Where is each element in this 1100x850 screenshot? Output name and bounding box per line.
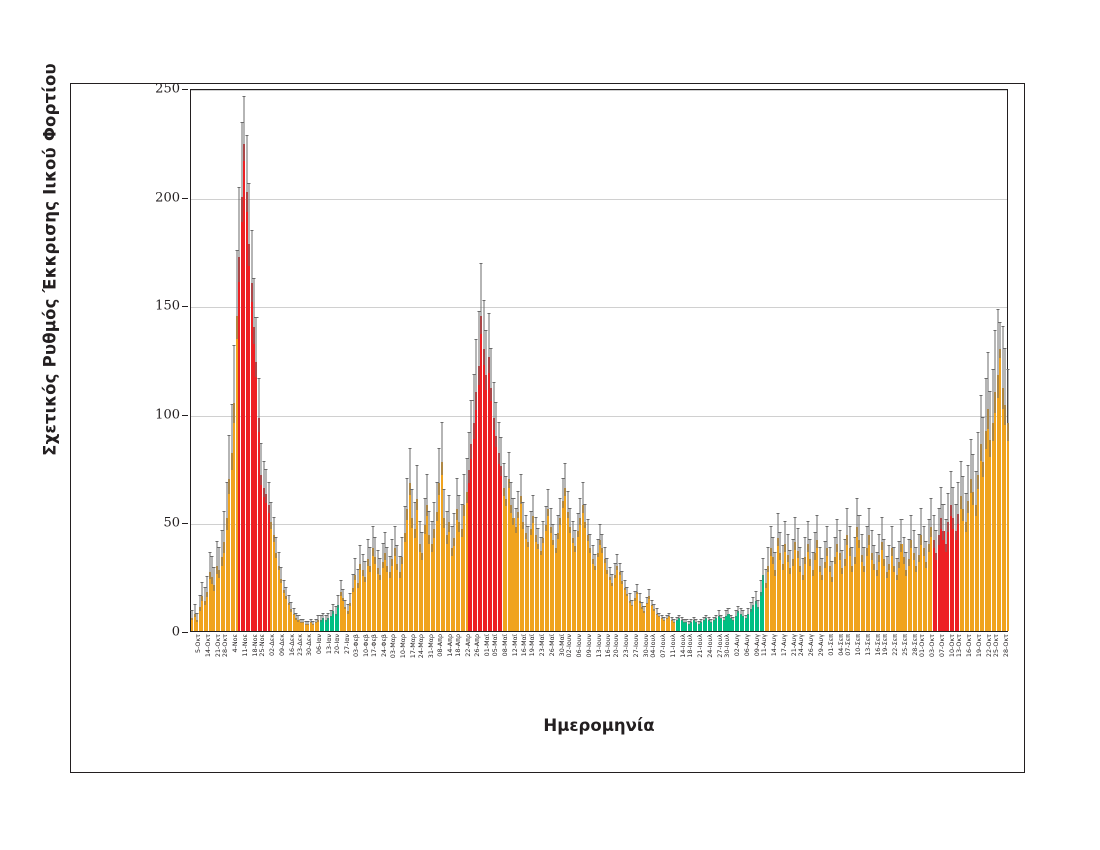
error-bar-line: [911, 516, 912, 548]
error-bar-line: [755, 592, 756, 604]
error-bar-line: [330, 611, 331, 617]
error-bar-line: [483, 301, 484, 366]
error-bar-line: [219, 548, 220, 577]
error-bar-line: [827, 527, 828, 556]
x-tick-label: 06-Ιουν: [575, 634, 583, 658]
error-bar-line: [258, 379, 259, 432]
error-bar-line: [800, 548, 801, 571]
x-tick-label: 11-Ιουλ: [669, 634, 677, 658]
error-bar-line: [476, 340, 477, 410]
error-bar-line: [422, 533, 423, 559]
error-bar-line: [525, 516, 526, 539]
error-bar-line: [772, 538, 773, 564]
error-bar-line: [580, 499, 581, 525]
error-bar-line: [211, 557, 212, 583]
error-bar-line: [886, 557, 887, 578]
error-bar-line: [444, 490, 445, 528]
error-bar-line: [627, 588, 628, 597]
x-tick-label: 26-Μαϊ: [548, 634, 556, 656]
error-bar-line: [550, 509, 551, 532]
y-axis: 050100150200250: [130, 83, 188, 639]
error-bar-line: [792, 540, 793, 566]
error-bar-line: [597, 540, 598, 558]
error-bar-line: [1000, 323, 1001, 358]
x-tick-label: 13-Οκτ: [955, 634, 963, 657]
error-bar-line: [234, 346, 235, 422]
x-tick-label: 20-Ιουν: [612, 634, 620, 658]
error-bar-line: [419, 522, 420, 551]
x-tick-label: 08-Απρ: [436, 634, 444, 657]
error-bar-line: [424, 499, 425, 534]
error-bar-line: [908, 540, 909, 566]
error-bar-line: [268, 483, 269, 512]
error-bar-line: [768, 548, 769, 571]
error-bar-line: [750, 603, 751, 612]
error-bar-line: [765, 570, 766, 588]
error-bar-line: [983, 418, 984, 477]
error-bar-line: [676, 618, 677, 621]
error-bar-line: [271, 503, 272, 529]
error-bar-line: [916, 548, 917, 571]
bar-group: [1007, 88, 1009, 631]
error-bar-line: [288, 596, 289, 605]
error-bar-line: [595, 555, 596, 570]
error-bar-line: [881, 518, 882, 550]
error-bar-line: [587, 520, 588, 541]
error-bar-line: [590, 535, 591, 553]
error-bar-line: [372, 527, 373, 556]
error-bar-line: [197, 614, 198, 623]
x-tick-label: 24-Αυγ: [797, 634, 805, 656]
error-bar-line: [266, 470, 267, 502]
error-bar-line: [960, 462, 961, 509]
x-tick-label: 28-Οκτ: [1002, 634, 1010, 657]
error-bar-line: [889, 546, 890, 569]
error-bar-line: [244, 97, 245, 162]
error-bar-line: [701, 620, 702, 623]
error-bar-line: [711, 620, 712, 623]
x-tick-label: 01-Οκτ: [918, 634, 926, 657]
error-bar-line: [852, 548, 853, 571]
error-bar-line: [491, 349, 492, 402]
x-tick-label: 12-Μαϊ: [511, 634, 519, 656]
error-bar-line: [530, 512, 531, 535]
error-bar-line: [936, 531, 937, 560]
error-bar-line: [464, 475, 465, 516]
x-tick-label: 13-Ιαν: [325, 634, 333, 654]
error-bar-line: [515, 509, 516, 532]
error-bar-line: [562, 479, 563, 508]
error-bar-line: [844, 540, 845, 566]
error-bar-line: [622, 572, 623, 584]
error-bar-line: [567, 492, 568, 518]
error-bar-line: [513, 499, 514, 525]
error-bar-line: [861, 535, 862, 561]
error-bar-line: [545, 507, 546, 530]
error-bar-line: [404, 507, 405, 542]
error-bar-line: [931, 499, 932, 537]
error-bar-line: [239, 188, 240, 282]
error-bar-line: [760, 581, 761, 596]
error-bar-line: [995, 331, 996, 413]
error-bar-line: [807, 522, 808, 551]
error-bar-line: [308, 622, 309, 625]
x-tick-label: 25-Νοε: [258, 634, 266, 657]
error-bar-line: [1002, 327, 1003, 409]
error-bar-line: [790, 551, 791, 574]
x-tick-label: 09-Ιουν: [585, 634, 593, 658]
error-bar-line: [624, 581, 625, 590]
error-bar-line: [488, 314, 489, 373]
bars-layer: [191, 90, 1007, 631]
error-bar-line: [236, 251, 237, 339]
error-bar-line: [602, 535, 603, 553]
error-bar-line: [854, 538, 855, 564]
error-bar-line: [347, 605, 348, 614]
x-tick-label: 07-Οκτ: [938, 634, 946, 657]
x-tick-label: 24-Ιουλ: [706, 634, 714, 658]
error-bar-line: [436, 483, 437, 521]
error-bar-line: [315, 620, 316, 623]
error-bar-line: [691, 620, 692, 623]
error-bar-line: [412, 490, 413, 528]
error-bar-line: [300, 620, 301, 623]
x-tick-label: 22-Απρ: [464, 634, 472, 657]
error-bar-line: [338, 596, 339, 608]
error-bar-line: [575, 531, 576, 552]
error-bar-line: [812, 553, 813, 576]
error-bar-line: [1007, 370, 1008, 440]
error-bar-line: [394, 527, 395, 556]
error-bar-line: [214, 568, 215, 591]
x-tick-label: 11-Νοε: [241, 634, 249, 657]
error-bar-line: [426, 475, 427, 516]
error-bar-line: [674, 620, 675, 623]
error-bar-line: [945, 520, 946, 552]
error-bar-line: [644, 607, 645, 613]
error-bar-line: [318, 616, 319, 622]
error-bar-line: [834, 538, 835, 564]
error-bar-line: [402, 538, 403, 564]
error-bar-line: [429, 512, 430, 544]
error-bar-line: [548, 490, 549, 516]
x-tick-label: 06-Ιαν: [315, 634, 323, 654]
x-tick-label: 09-Δεκ: [278, 634, 286, 656]
error-bar-line: [557, 516, 558, 539]
error-bar-line: [291, 603, 292, 612]
error-bar-line: [434, 503, 435, 538]
error-bar-line: [703, 618, 704, 621]
error-bar-line: [313, 622, 314, 625]
x-tick-label: 28-Οκτ: [221, 634, 229, 657]
error-bar-line: [377, 551, 378, 574]
error-bar-line: [459, 496, 460, 531]
x-tick-label: 14-Οκτ: [204, 634, 212, 657]
error-bar-line: [953, 488, 954, 529]
error-bar-line: [874, 546, 875, 569]
error-bar-line: [241, 123, 242, 223]
error-bar-line: [726, 611, 727, 617]
error-bar-line: [805, 538, 806, 564]
x-tick-label: 21-Ιουλ: [696, 634, 704, 658]
error-bar-line: [684, 620, 685, 623]
x-axis-tick-labels: 5-Οκτ14-Οκτ21-Οκτ28-Οκτ4-Νοε11-Νοε18-Νοε…: [190, 634, 1008, 710]
x-tick-label: 14-Αυγ: [770, 634, 778, 656]
error-bar-line: [928, 520, 929, 552]
error-bar-line: [604, 548, 605, 563]
x-tick-label: 16-Δεκ: [288, 634, 296, 656]
error-bar-line: [876, 553, 877, 576]
error-bar-line: [785, 522, 786, 551]
error-bar-line: [194, 605, 195, 617]
error-bar-line: [795, 518, 796, 550]
x-tick-label: 07-Ιουλ: [659, 634, 667, 658]
error-bar-line: [417, 466, 418, 510]
error-bar-line: [758, 601, 759, 610]
y-tick-label: 100: [155, 407, 180, 422]
x-tick-label: 20-Ιαν: [333, 634, 341, 654]
x-tick-label: 18-Απρ: [454, 634, 462, 657]
error-bar-line: [824, 542, 825, 568]
x-tick-label: 23-Δεκ: [296, 634, 304, 656]
error-bar-line: [466, 459, 467, 503]
x-tick-label: 19-Μαϊ: [528, 634, 536, 656]
error-bar-line: [634, 592, 635, 601]
x-tick-label: 10-Σεπ: [854, 634, 862, 656]
error-bar-line: [814, 533, 815, 559]
error-bar-line: [775, 553, 776, 576]
error-bar-line: [842, 551, 843, 574]
error-bar-line: [276, 538, 277, 559]
error-bar-line: [471, 401, 472, 460]
error-bar-line: [350, 594, 351, 606]
error-bar-line: [392, 540, 393, 566]
x-tick-label: 02-Αυγ: [733, 634, 741, 656]
error-bar-line: [614, 564, 615, 579]
error-bar-line: [582, 483, 583, 512]
error-bar-line: [629, 594, 630, 603]
y-tick-mark: [182, 632, 188, 633]
x-tick-label: 10-Μαρ: [399, 634, 407, 658]
error-bar-line: [397, 546, 398, 569]
error-bar-line: [446, 512, 447, 544]
error-bar-line: [810, 540, 811, 566]
y-tick-label: 200: [155, 190, 180, 205]
error-bar-line: [918, 535, 919, 561]
x-tick-label: 11-Αυγ: [760, 634, 768, 656]
error-bar-line: [698, 622, 699, 625]
error-bar-line: [664, 618, 665, 621]
x-tick-label: 27-Ιουν: [632, 634, 640, 658]
x-tick-label: 03-Οκτ: [928, 634, 936, 657]
error-bar-line: [585, 505, 586, 528]
plot-area: [190, 89, 1008, 632]
error-bar-line: [837, 520, 838, 552]
x-tick-label: 05-Μαϊ: [491, 634, 499, 656]
x-axis-title: Ημερομηνία: [190, 716, 1008, 735]
error-bar-line: [251, 231, 252, 301]
error-bar-line: [921, 509, 922, 544]
error-bar-line: [305, 622, 306, 625]
error-bar-line: [362, 555, 363, 576]
x-tick-label: 4-Νοε: [231, 634, 239, 653]
y-tick-label: 250: [155, 82, 180, 97]
y-tick-mark: [182, 89, 188, 90]
y-tick-mark: [182, 523, 188, 524]
error-bar-line: [493, 383, 494, 430]
error-bar-line: [819, 548, 820, 571]
x-tick-label: 26-Απρ: [473, 634, 481, 657]
error-bar-line: [941, 488, 942, 529]
error-bar-line: [713, 618, 714, 621]
error-bar-line: [632, 601, 633, 607]
error-bar-line: [407, 479, 408, 520]
error-bar-line: [518, 492, 519, 518]
x-tick-label: 02-Δεκ: [268, 634, 276, 656]
x-tick-label: 19-Σεπ: [881, 634, 889, 656]
error-bar-line: [486, 331, 487, 390]
error-bar-line: [357, 570, 358, 588]
error-bar-line: [286, 588, 287, 600]
x-tick-label: 16-Οκτ: [965, 634, 973, 657]
error-bar-line: [231, 405, 232, 470]
error-bar-line: [226, 483, 227, 530]
y-tick-mark: [182, 415, 188, 416]
error-bar-line: [382, 544, 383, 567]
error-bar-line: [375, 538, 376, 564]
error-bar-line: [849, 527, 850, 556]
error-bar-line: [328, 614, 329, 620]
error-bar-line: [498, 423, 499, 464]
error-bar-line: [612, 575, 613, 587]
error-bar-line: [975, 472, 976, 516]
error-bar-line: [943, 505, 944, 540]
error-bar-line: [345, 601, 346, 610]
error-bar-line: [414, 503, 415, 538]
error-bar-line: [649, 590, 650, 599]
error-bar-line: [948, 494, 949, 532]
x-tick-label: 02-Ιουν: [565, 634, 573, 658]
error-bar-line: [473, 375, 474, 440]
error-bar-line: [666, 616, 667, 619]
error-bar-line: [207, 577, 208, 598]
x-tick-label: 04-Ιουλ: [649, 634, 657, 658]
error-bar-line: [965, 494, 966, 532]
error-bar-line: [387, 548, 388, 571]
error-bar-line: [990, 392, 991, 457]
x-tick-label: 13-Ιουν: [595, 634, 603, 658]
error-bar-line: [753, 598, 754, 607]
error-bar-line: [560, 499, 561, 525]
x-tick-label: 17-Αυγ: [780, 634, 788, 656]
error-bar-line: [832, 562, 833, 583]
error-bar-line: [782, 546, 783, 569]
error-bar-line: [431, 522, 432, 551]
error-bar-line: [802, 559, 803, 580]
error-bar-line: [619, 564, 620, 576]
error-bar-line: [997, 310, 998, 398]
x-tick-label: 5-Οκτ: [194, 634, 202, 653]
error-bar-line: [1005, 349, 1006, 425]
error-bar-line: [839, 531, 840, 560]
error-bar-line: [733, 618, 734, 621]
x-tick-label: 03-Μαρ: [389, 634, 397, 658]
error-bar-line: [389, 557, 390, 578]
error-bar-line: [199, 596, 200, 611]
error-bar-line: [896, 559, 897, 580]
error-bar-line: [325, 616, 326, 622]
error-bar-line: [320, 616, 321, 622]
error-bar-line: [192, 611, 193, 620]
error-bar-line: [866, 527, 867, 556]
error-bar-line: [439, 449, 440, 496]
error-bar-line: [864, 548, 865, 571]
x-tick-label: 24-Μαρ: [417, 634, 425, 658]
x-tick-label: 17-Φεβ: [370, 634, 378, 657]
error-bar-line: [723, 618, 724, 621]
error-bar-line: [540, 538, 541, 556]
error-bar-line: [256, 318, 257, 377]
x-tick-label: 24-Φεβ: [380, 634, 388, 657]
error-bar-line: [894, 548, 895, 571]
error-bar-line: [555, 535, 556, 553]
error-bar-line: [985, 379, 986, 449]
error-bar-line: [478, 312, 479, 385]
error-bar-line: [899, 542, 900, 568]
x-tick-label: 08-Μαϊ: [501, 634, 509, 656]
x-tick-label: 19-Οκτ: [975, 634, 983, 657]
error-bar-line: [533, 496, 534, 522]
error-bar-line: [503, 464, 504, 496]
chart-page: Σχετικός Ρυθμός Έκκρισης Ιικού Φορτίου 0…: [0, 0, 1100, 850]
error-bar-line: [254, 279, 255, 344]
error-bar-line: [688, 622, 689, 625]
x-tick-label: 30-Δεκ: [305, 634, 313, 656]
error-bar-line: [221, 531, 222, 566]
error-bar-line: [955, 505, 956, 540]
error-bar-line: [384, 533, 385, 559]
error-bar-line: [973, 455, 974, 505]
error-bar-line: [592, 546, 593, 564]
error-bar-line: [748, 609, 749, 615]
x-tick-label: 23-Ιουν: [622, 634, 630, 658]
error-bar-line: [958, 483, 959, 524]
y-tick-mark: [182, 198, 188, 199]
error-bar-line: [335, 607, 336, 616]
x-tick-label: 27-Ιαν: [343, 634, 351, 654]
error-bar-line: [978, 433, 979, 489]
x-tick-label: 23-Μαϊ: [538, 634, 546, 656]
error-bar-line: [970, 440, 971, 493]
error-bar-line: [879, 535, 880, 561]
error-bar-line: [523, 503, 524, 529]
error-bar-line: [869, 509, 870, 544]
error-bar-line: [204, 588, 205, 606]
error-bar-line: [950, 472, 951, 516]
error-bar-line: [770, 527, 771, 556]
x-tick-label: 29-Αυγ: [817, 634, 825, 656]
error-bar-line: [229, 436, 230, 495]
y-tick-mark: [182, 306, 188, 307]
error-bar-line: [716, 616, 717, 619]
error-bar-line: [461, 505, 462, 537]
y-tick-label: 150: [155, 299, 180, 314]
x-tick-label: 18-Ιουλ: [686, 634, 694, 658]
error-bar-line: [777, 514, 778, 546]
error-bar-line: [933, 516, 934, 548]
error-bar-line: [501, 438, 502, 476]
error-bar-line: [903, 538, 904, 564]
